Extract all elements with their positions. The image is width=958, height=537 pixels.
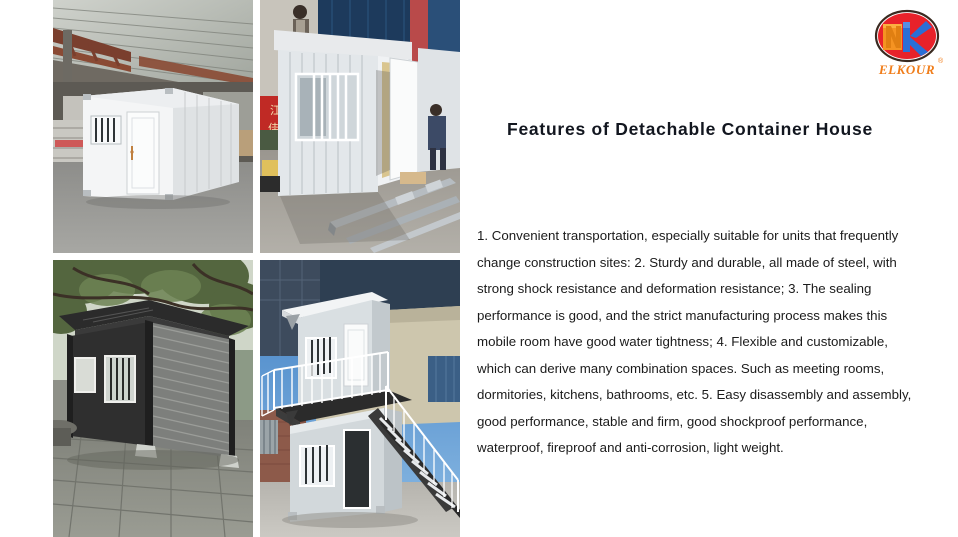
page-title: Features of Detachable Container House bbox=[507, 115, 907, 144]
photo-container-house-assembly-outdoor[interactable]: 江 佳 bbox=[260, 0, 460, 253]
features-description: 1. Convenient transportation, especially… bbox=[477, 223, 925, 462]
elkour-nk-logo[interactable]: ELKOUR ® bbox=[862, 6, 952, 88]
logo-wordmark: ELKOUR bbox=[878, 62, 935, 77]
registered-trademark-icon: ® bbox=[938, 57, 944, 65]
slide-canvas: 江 佳 bbox=[0, 0, 958, 537]
photo-dark-container-house-garden[interactable] bbox=[53, 260, 253, 537]
photo-white-container-house-factory[interactable] bbox=[53, 0, 253, 253]
photo-gallery: 江 佳 bbox=[53, 0, 460, 537]
photo-two-story-container-house-stairs[interactable] bbox=[260, 260, 460, 537]
